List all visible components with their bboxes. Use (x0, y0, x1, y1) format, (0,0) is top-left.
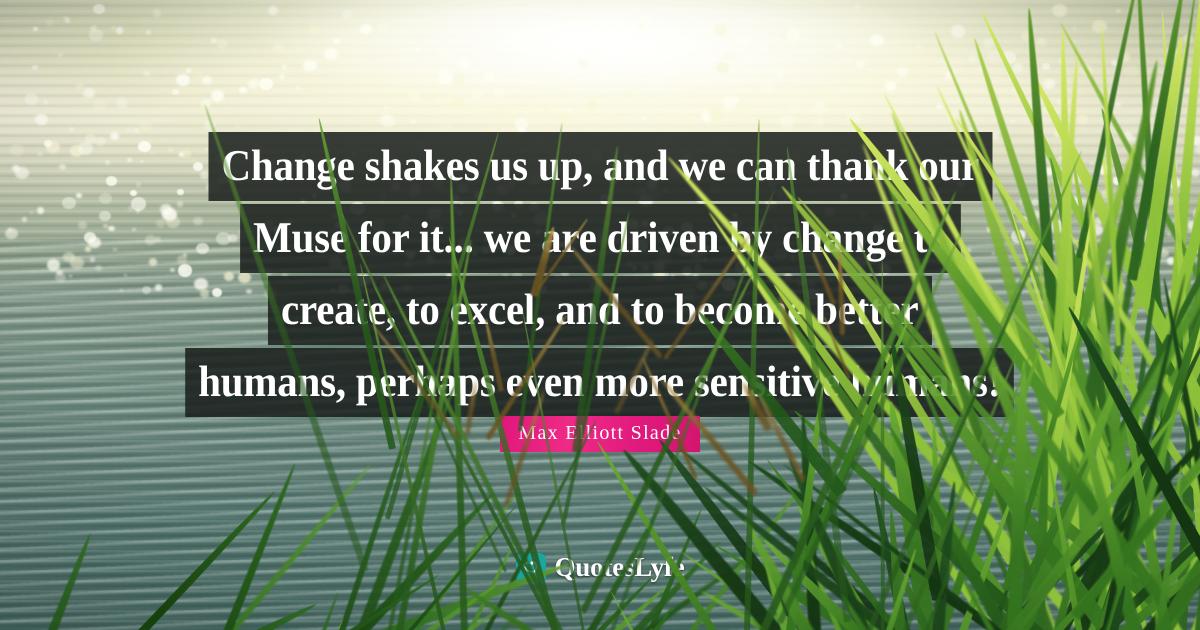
quote-card: Change shakes us up, and we can thank ou… (0, 0, 1200, 630)
